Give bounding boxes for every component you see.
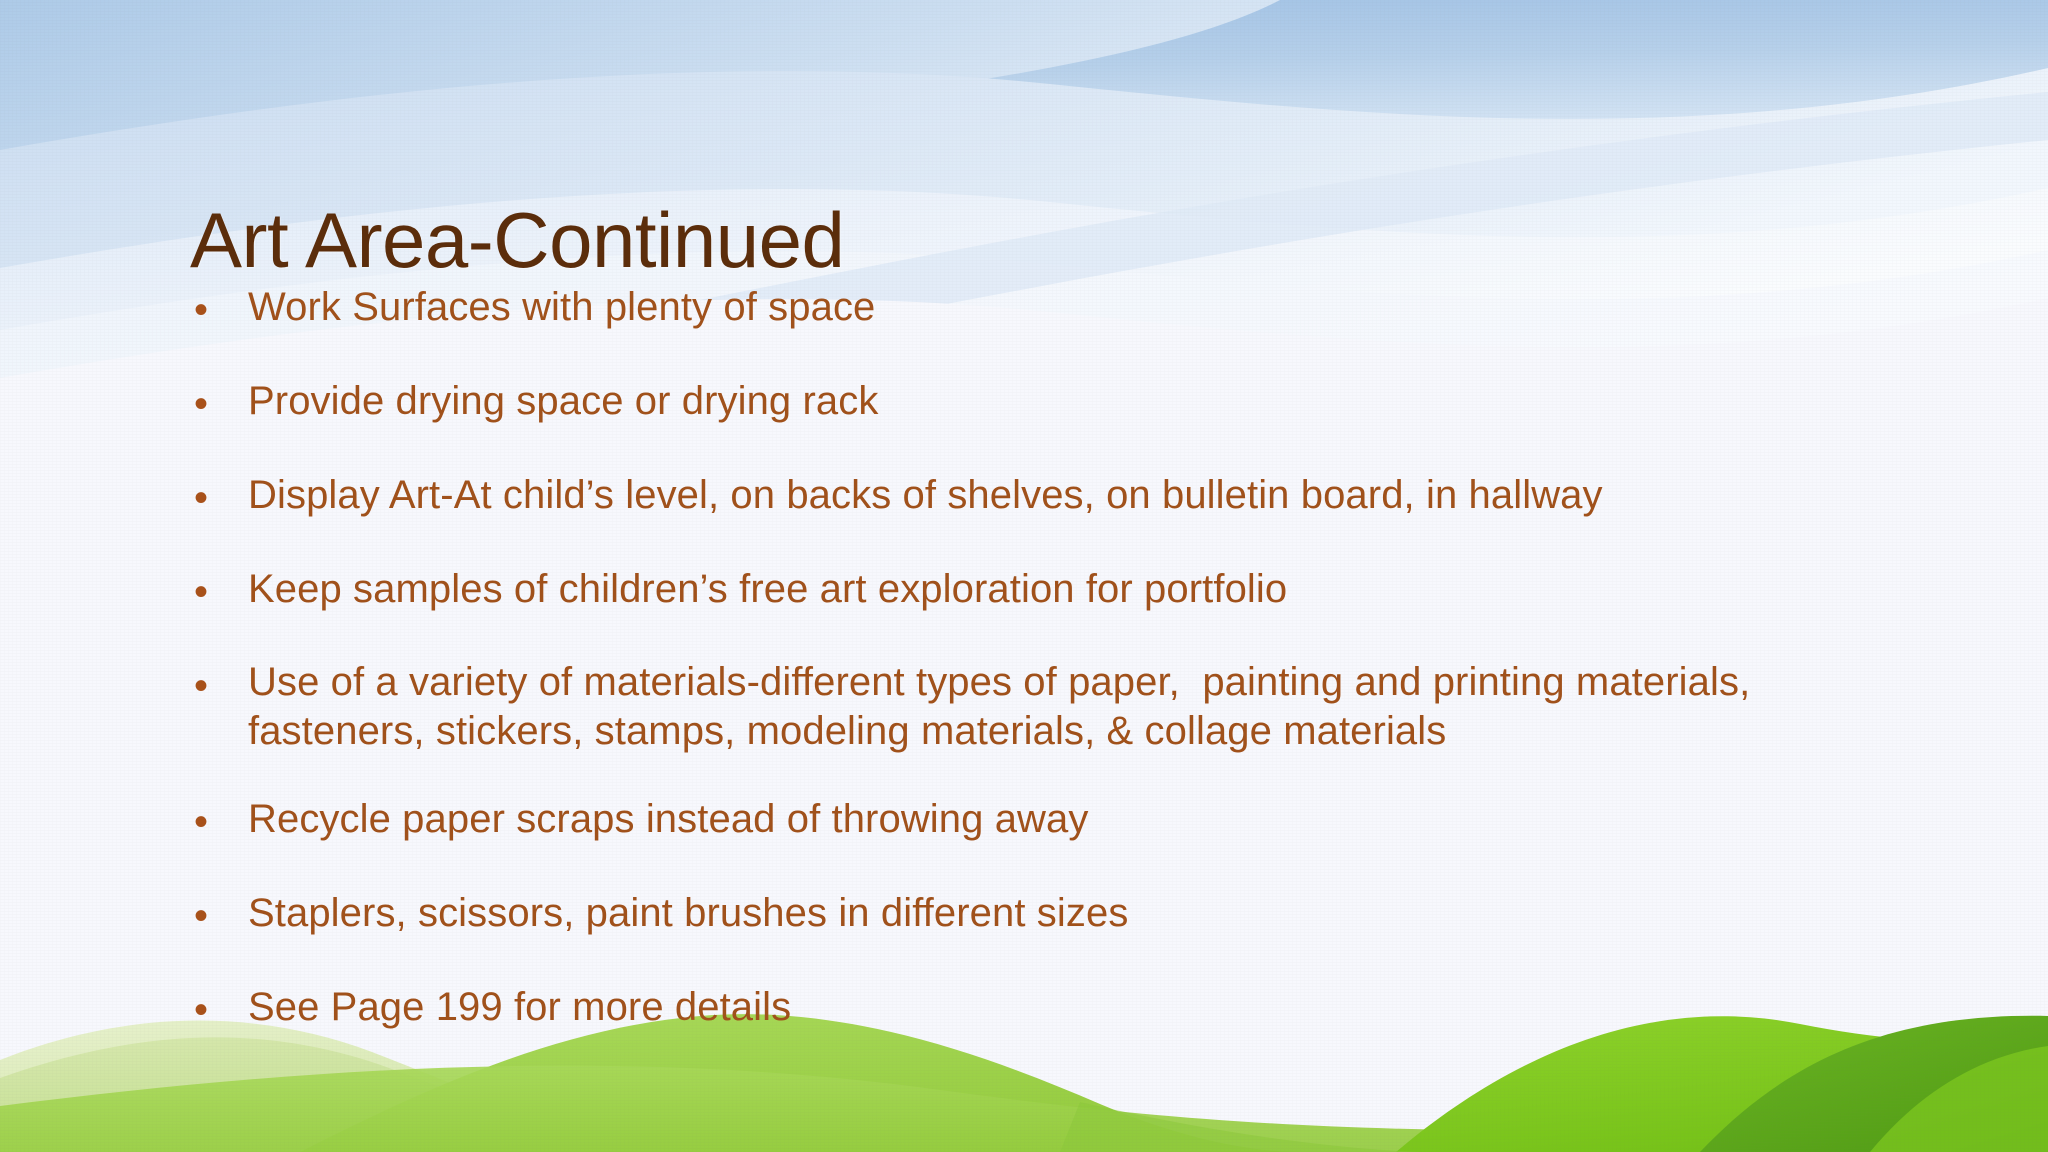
list-item-text: See Page 199 for more details	[248, 982, 1916, 1033]
list-item: • Work Surfaces with plenty of space	[186, 282, 1916, 338]
list-item-text: Display Art-At child’s level, on backs o…	[248, 470, 1916, 521]
bullet-list: • Work Surfaces with plenty of space • P…	[186, 282, 1916, 1038]
list-item-text: Recycle paper scraps instead of throwing…	[248, 794, 1916, 845]
list-item-text: Provide drying space or drying rack	[248, 376, 1916, 427]
list-item: • Staplers, scissors, paint brushes in d…	[186, 888, 1916, 944]
bullet-point-icon: •	[186, 794, 248, 850]
list-item: • Use of a variety of materials-differen…	[186, 658, 1916, 756]
bullet-point-icon: •	[186, 982, 248, 1038]
bullet-point-icon: •	[186, 470, 248, 526]
list-item: • See Page 199 for more details	[186, 982, 1916, 1038]
slide-title: Art Area-Continued	[190, 200, 1890, 282]
list-item-text: Use of a variety of materials-different …	[248, 658, 1916, 756]
bullet-point-icon: •	[186, 282, 248, 338]
bullet-point-icon: •	[186, 376, 248, 432]
bullet-point-icon: •	[186, 888, 248, 944]
list-item-text: Staplers, scissors, paint brushes in dif…	[248, 888, 1916, 939]
bullet-point-icon: •	[186, 658, 248, 714]
list-item: • Keep samples of children’s free art ex…	[186, 564, 1916, 620]
list-item-text: Keep samples of children’s free art expl…	[248, 564, 1916, 615]
list-item-text: Work Surfaces with plenty of space	[248, 282, 1916, 333]
presentation-slide: Art Area-Continued • Work Surfaces with …	[0, 0, 2048, 1152]
bullet-point-icon: •	[186, 564, 248, 620]
slide-content: Art Area-Continued • Work Surfaces with …	[0, 0, 2048, 1152]
list-item: • Recycle paper scraps instead of throwi…	[186, 794, 1916, 850]
list-item: • Display Art-At child’s level, on backs…	[186, 470, 1916, 526]
list-item: • Provide drying space or drying rack	[186, 376, 1916, 432]
